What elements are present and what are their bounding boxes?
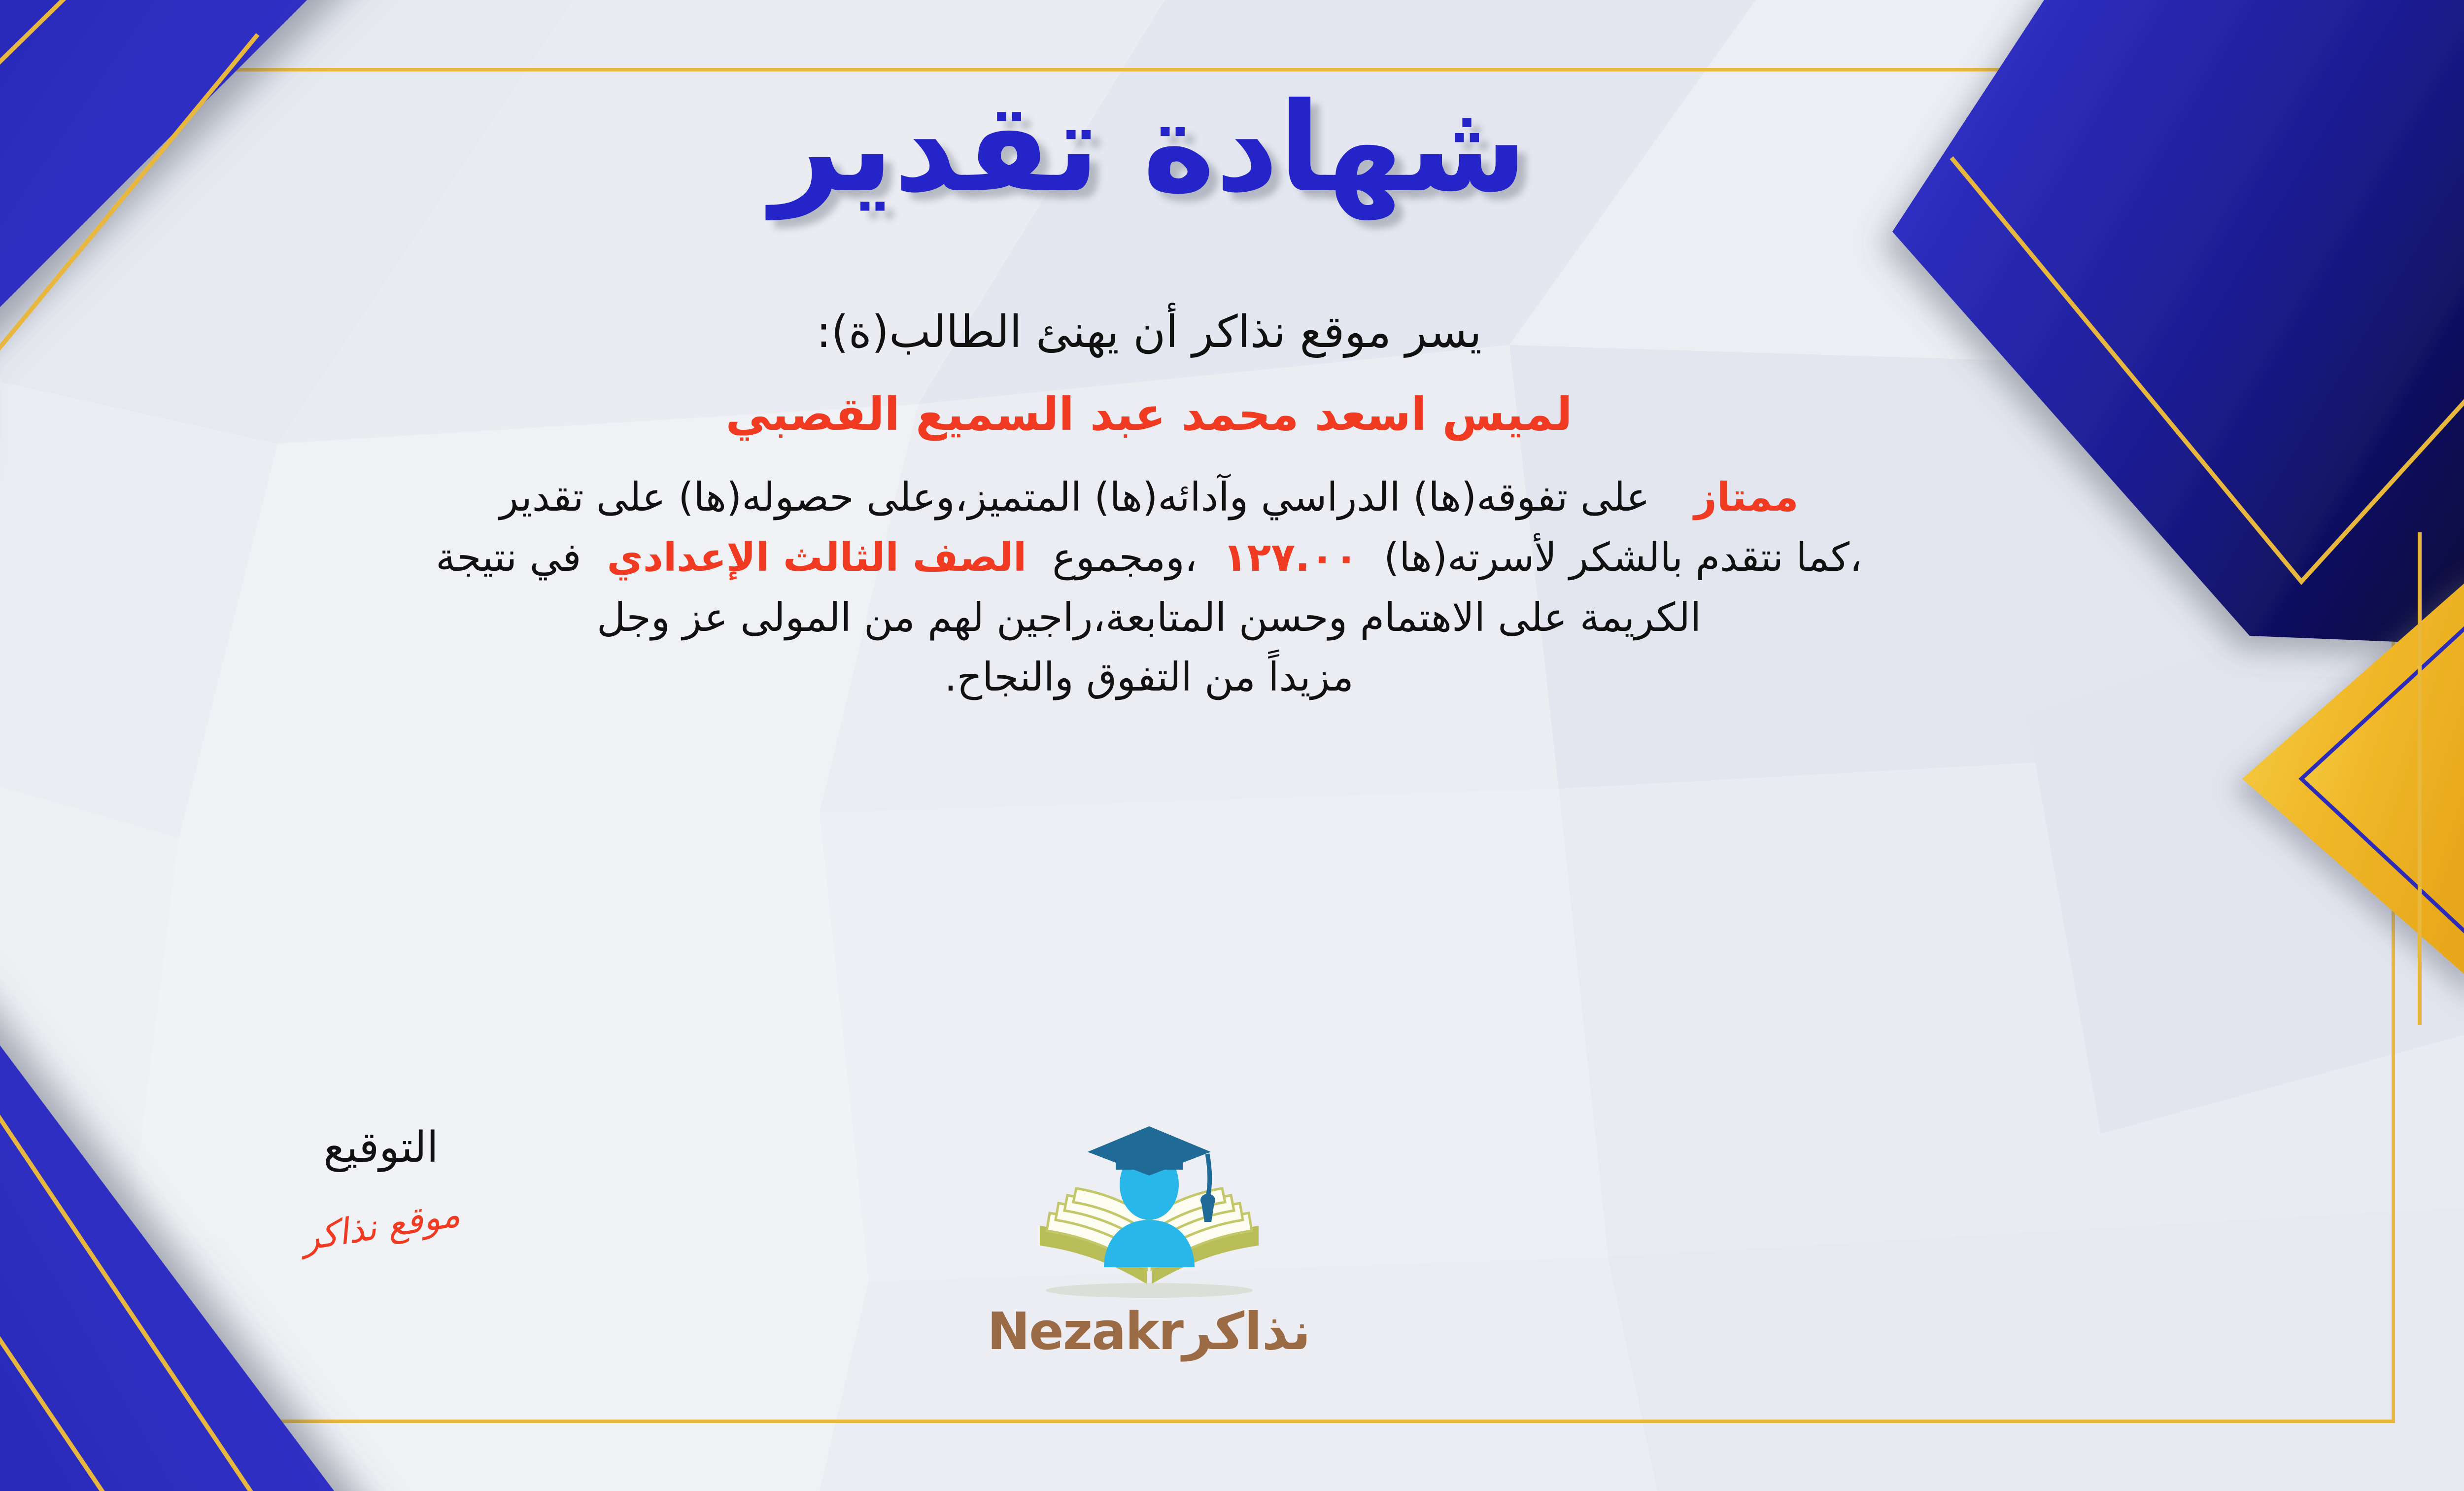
body-line-3: الكريمة على الاهتمام وحسن المتابعة،راجين… <box>0 588 2346 648</box>
page-title: شهادة تقدير <box>771 86 1527 209</box>
body-line-2: ،كما نتقدم بالشكر لأسرته(ها) ١٢٧.٠٠ ،ومج… <box>0 527 2346 588</box>
certificate-footer: التوقيع موقع نذاكر <box>0 1126 2346 1402</box>
body-line-4: مزيداً من التفوق والنجاح. <box>0 647 2346 707</box>
student-name: لميس اسعد محمد عبد السميع القصبي <box>0 387 2346 442</box>
signature-mark: موقع نذاكر <box>300 1196 463 1256</box>
body-line-1: ممتاز على تفوقه(ها) الدراسي وآدائه(ها) ا… <box>0 467 2346 527</box>
body-line-1-text: على تفوقه(ها) الدراسي وآدائه(ها) المتميز… <box>499 467 1649 527</box>
body-line-2-mid: ،ومجموع <box>1052 527 1197 588</box>
graduate-book-icon <box>1011 1121 1287 1304</box>
intro-line: يسر موقع نذاكر أن يهنئ الطالب(ة): <box>0 306 2346 359</box>
body-line-2-tail: ،كما نتقدم بالشكر لأسرته(ها) <box>1384 527 1862 588</box>
logo-wordmark: Nezakrنذاكر <box>962 1306 1336 1357</box>
signature-block: التوقيع موقع نذاكر <box>268 1126 494 1244</box>
certificate-canvas: شهادة تقدير يسر موقع نذاكر أن يهنئ الطال… <box>0 0 2464 1491</box>
certificate-title: شهادة تقدير <box>0 74 2346 222</box>
class-level: الصف الثالث الإعدادي <box>607 527 1027 588</box>
brand-logo: Nezakrنذاكر <box>962 1121 1336 1357</box>
logo-wordmark-latin: Nezakr <box>987 1301 1183 1361</box>
grade-rating: ممتاز <box>1694 467 1799 527</box>
certificate-body: ممتاز على تفوقه(ها) الدراسي وآدائه(ها) ا… <box>0 467 2346 707</box>
signature-label: التوقيع <box>268 1126 494 1169</box>
logo-wordmark-arabic: نذاكر <box>1183 1301 1311 1361</box>
total-score: ١٢٧.٠٠ <box>1223 527 1359 588</box>
body-line-2-head: في نتيجة <box>436 527 581 588</box>
